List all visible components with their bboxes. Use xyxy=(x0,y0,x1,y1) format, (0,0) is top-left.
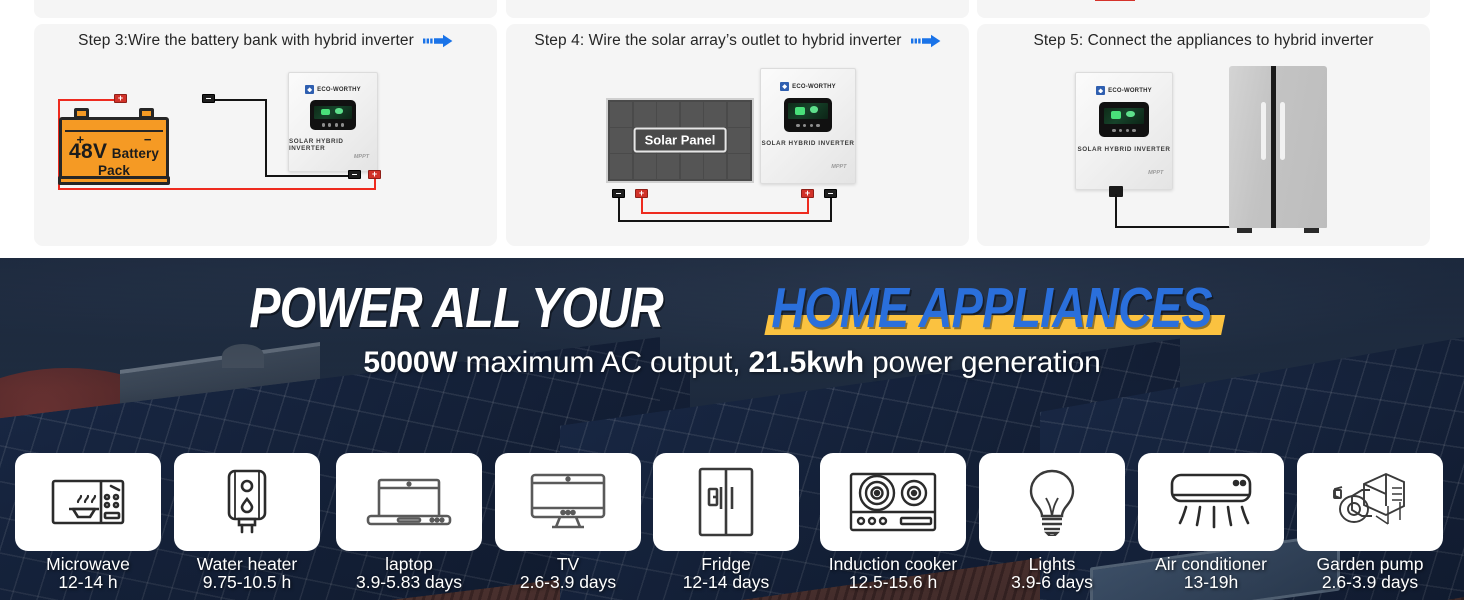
wire-black-run xyxy=(618,220,832,222)
step-5-header: Step 5: Connect the appliances to hybrid… xyxy=(977,32,1430,50)
step-5-label: Step 5: Connect the appliances to hybrid… xyxy=(1033,32,1373,50)
eco-worthy-mark-icon xyxy=(1096,86,1105,95)
appliance-caption: Air conditioner13-19h xyxy=(1155,555,1267,592)
connector-negative-left xyxy=(612,189,625,198)
connector-negative-top xyxy=(202,94,215,103)
appliance-duration: 9.75-10.5 h xyxy=(197,573,298,592)
partial-card-2 xyxy=(506,0,969,18)
solar-cell xyxy=(634,154,656,179)
mppt-badge: MPPT xyxy=(354,154,369,160)
appliance-caption: TV2.6-3.9 days xyxy=(520,555,616,592)
eco-worthy-mark-icon xyxy=(780,82,789,91)
partial-card-3 xyxy=(977,0,1430,18)
appliance-name: laptop xyxy=(385,554,433,574)
appliance-duration: 2.6-3.9 days xyxy=(520,573,616,592)
lcd-screen xyxy=(1104,108,1145,124)
banner-headline: POWER ALL YOUR HOME APPLIANCES xyxy=(0,280,1464,337)
headline-highlight-part: HOME APPLIANCES xyxy=(771,280,1211,337)
wire-red-run xyxy=(641,212,809,214)
appliance-duration: 13-19h xyxy=(1155,573,1267,592)
eco-worthy-logo: ECO-WORTHY xyxy=(1096,86,1152,95)
appliance-item-induction-cooker[interactable]: Induction cooker12.5-15.6 h xyxy=(820,453,966,592)
inverter-display-icon xyxy=(310,100,356,129)
appliance-icon-tile xyxy=(820,453,966,551)
wire-black-bottom xyxy=(265,175,357,177)
solar-cell xyxy=(728,128,750,153)
solar-cell xyxy=(728,154,750,179)
connector-negative-bottom xyxy=(348,170,361,179)
appliance-name: TV xyxy=(557,554,579,574)
battery-label: 48V Battery Pack xyxy=(62,141,166,180)
connector-positive-top xyxy=(114,94,127,103)
appliance-duration: 2.6-3.9 days xyxy=(1316,573,1423,592)
induction-cooker-icon xyxy=(849,472,937,532)
appliance-icon-tile xyxy=(495,453,641,551)
solar-cell xyxy=(728,102,750,127)
step-card-5: Step 5: Connect the appliances to hybrid… xyxy=(977,24,1430,246)
appliance-icon-tile xyxy=(653,453,799,551)
appliance-icon-tile xyxy=(1297,453,1443,551)
step-3-label: Step 3:Wire the battery bank with hybrid… xyxy=(78,32,414,50)
connector-positive-right xyxy=(801,189,814,198)
step-card-4: Step 4: Wire the solar array’s outlet to… xyxy=(506,24,969,246)
appliance-caption: Microwave12-14 h xyxy=(46,555,130,592)
hybrid-inverter-unit: ECO-WORTHY SOLAR HYBRID INVERTER MPPT xyxy=(1075,72,1173,190)
headline-white-part: POWER ALL YOUR xyxy=(249,280,663,337)
solar-cell xyxy=(657,102,679,127)
battery-voltage: 48V xyxy=(69,140,107,163)
appliance-name: Induction cooker xyxy=(829,554,957,574)
subtitle-capacity: 21.5kwh xyxy=(749,346,864,379)
lcd-screen xyxy=(314,106,352,120)
wire-red-bottom xyxy=(58,188,376,190)
inverter-buttons xyxy=(319,123,347,126)
appliance-list: Microwave12-14 hWater heater9.75-10.5 hl… xyxy=(0,432,1464,592)
step-card-3: Step 3:Wire the battery bank with hybrid… xyxy=(34,24,497,246)
product-infographic-page: Step 3:Wire the battery bank with hybrid… xyxy=(0,0,1464,600)
lightbulb-icon xyxy=(1023,468,1081,536)
appliance-item-microwave[interactable]: Microwave12-14 h xyxy=(15,453,161,592)
fridge-door-split xyxy=(1271,66,1276,228)
appliance-duration: 3.9-5.83 days xyxy=(356,573,462,592)
refrigerator xyxy=(1229,66,1327,228)
previous-row-partial xyxy=(0,0,1464,18)
hybrid-inverter-unit: ECO-WORTHY SOLAR HYBRID INVERTER MPPT xyxy=(288,72,378,172)
banner-subtitle: 5000W maximum AC output, 21.5kwh power g… xyxy=(0,346,1464,380)
inverter-title: SOLAR HYBRID INVERTER xyxy=(1077,146,1170,153)
fridge-icon xyxy=(696,467,756,537)
brand-name: ECO-WORTHY xyxy=(317,87,361,93)
hero-banner: POWER ALL YOUR HOME APPLIANCES 5000W max… xyxy=(0,258,1464,600)
appliance-icon-tile xyxy=(15,453,161,551)
appliance-item-fridge[interactable]: Fridge12-14 days xyxy=(653,453,799,592)
subtitle-power-output: 5000W xyxy=(363,346,457,379)
appliance-name: Water heater xyxy=(197,554,298,574)
solar-cell xyxy=(681,154,703,179)
battery-body: + − 48V Battery Pack xyxy=(59,117,169,184)
inverter-title: SOLAR HYBRID INVERTER xyxy=(761,140,854,147)
solar-cell xyxy=(610,154,632,179)
lcd-screen xyxy=(788,103,828,119)
appliance-item-tv[interactable]: TV2.6-3.9 days xyxy=(495,453,641,592)
arrow-right-icon xyxy=(911,34,941,48)
appliance-caption: Fridge12-14 days xyxy=(683,555,770,592)
headline-highlight-text: HOME APPLIANCES xyxy=(771,276,1211,340)
inverter-buttons xyxy=(793,124,823,127)
wire-black-top xyxy=(212,99,267,101)
appliance-caption: Water heater9.75-10.5 h xyxy=(197,555,298,592)
appliance-duration: 12.5-15.6 h xyxy=(829,573,957,592)
steps-row: Step 3:Wire the battery bank with hybrid… xyxy=(0,24,1464,246)
solar-cell xyxy=(704,102,726,127)
appliance-item-water-heater[interactable]: Water heater9.75-10.5 h xyxy=(174,453,320,592)
appliance-duration: 3.9-6 days xyxy=(1011,573,1093,592)
brand-name: ECO-WORTHY xyxy=(1108,88,1152,94)
subtitle-mid-text: maximum AC output, xyxy=(457,346,748,379)
battery-base xyxy=(58,176,170,185)
subtitle-end-text: power generation xyxy=(864,346,1101,379)
appliance-name: Lights xyxy=(1029,554,1076,574)
mppt-badge: MPPT xyxy=(831,164,846,170)
appliance-name: Fridge xyxy=(701,554,751,574)
arrow-right-icon xyxy=(423,34,453,48)
brand-name: ECO-WORTHY xyxy=(792,84,836,90)
eco-worthy-logo: ECO-WORTHY xyxy=(305,85,361,94)
step-4-label: Step 4: Wire the solar array’s outlet to… xyxy=(534,32,901,50)
wire-black-vert xyxy=(265,99,267,177)
fridge-handle-right xyxy=(1280,102,1285,160)
step-5-diagram: ECO-WORTHY SOLAR HYBRID INVERTER MPPT xyxy=(977,58,1430,246)
air-conditioner-icon xyxy=(1168,471,1254,533)
appliance-item-laptop[interactable]: laptop3.9-5.83 days xyxy=(336,453,482,592)
solar-cell xyxy=(704,154,726,179)
wire-red-right-riser xyxy=(807,197,809,214)
fridge-handle-left xyxy=(1261,102,1266,160)
partial-card-1 xyxy=(34,0,497,18)
inverter-display-icon xyxy=(784,98,833,132)
appliance-caption: Garden pump2.6-3.9 days xyxy=(1316,555,1423,592)
step-3-diagram: ECO-WORTHY SOLAR HYBRID INVERTER MPPT xyxy=(34,58,497,246)
solar-cell xyxy=(681,102,703,127)
step-3-header: Step 3:Wire the battery bank with hybrid… xyxy=(34,32,497,50)
inverter-title: SOLAR HYBRID INVERTER xyxy=(289,138,377,152)
appliance-caption: laptop3.9-5.83 days xyxy=(356,555,462,592)
partial-red-connector xyxy=(1095,0,1135,1)
appliance-duration: 12-14 days xyxy=(683,573,770,592)
solar-cell xyxy=(657,154,679,179)
battery-pack: + − 48V Battery Pack xyxy=(59,108,169,184)
wire-black-to-fridge xyxy=(1115,226,1235,228)
fridge-foot-left xyxy=(1237,228,1252,233)
connector-negative-right xyxy=(824,189,837,198)
connector-positive-left xyxy=(635,189,648,198)
solar-panel-label: Solar Panel xyxy=(634,128,727,153)
appliance-duration: 12-14 h xyxy=(46,573,130,592)
appliance-name: Air conditioner xyxy=(1155,554,1267,574)
microwave-icon xyxy=(51,477,125,527)
solar-cell xyxy=(610,102,632,127)
wire-black-drop xyxy=(1115,194,1117,228)
appliance-icon-tile xyxy=(979,453,1125,551)
eco-worthy-logo: ECO-WORTHY xyxy=(780,82,836,91)
inverter-buttons xyxy=(1109,129,1140,132)
laptop-icon xyxy=(366,476,452,528)
appliance-icon-tile xyxy=(336,453,482,551)
step-4-header: Step 4: Wire the solar array’s outlet to… xyxy=(506,32,969,50)
appliance-caption: Lights3.9-6 days xyxy=(1011,555,1093,592)
appliance-name: Microwave xyxy=(46,554,130,574)
mppt-badge: MPPT xyxy=(1148,170,1163,176)
water-heater-icon xyxy=(220,469,274,535)
connector-positive-bottom xyxy=(368,170,381,179)
appliance-item-air-conditioner[interactable]: Air conditioner13-19h xyxy=(1138,453,1284,592)
garden-pump-icon xyxy=(1330,470,1410,534)
fridge-foot-right xyxy=(1304,228,1319,233)
battery-name: Battery Pack xyxy=(98,146,159,178)
inverter-display-icon xyxy=(1099,102,1149,137)
solar-cell xyxy=(610,128,632,153)
hybrid-inverter-unit: ECO-WORTHY SOLAR HYBRID INVERTER MPPT xyxy=(760,68,856,184)
tv-icon xyxy=(530,472,606,532)
step-4-diagram: ECO-WORTHY SOLAR HYBRID INVERTER MPPT So… xyxy=(506,58,969,246)
appliance-icon-tile xyxy=(174,453,320,551)
appliance-caption: Induction cooker12.5-15.6 h xyxy=(829,555,957,592)
appliance-icon-tile xyxy=(1138,453,1284,551)
appliance-item-garden-pump[interactable]: Garden pump2.6-3.9 days xyxy=(1297,453,1443,592)
appliance-name: Garden pump xyxy=(1316,554,1423,574)
wire-red-top xyxy=(58,99,120,101)
appliance-item-lights[interactable]: Lights3.9-6 days xyxy=(979,453,1125,592)
eco-worthy-mark-icon xyxy=(305,85,314,94)
solar-cell xyxy=(634,102,656,127)
